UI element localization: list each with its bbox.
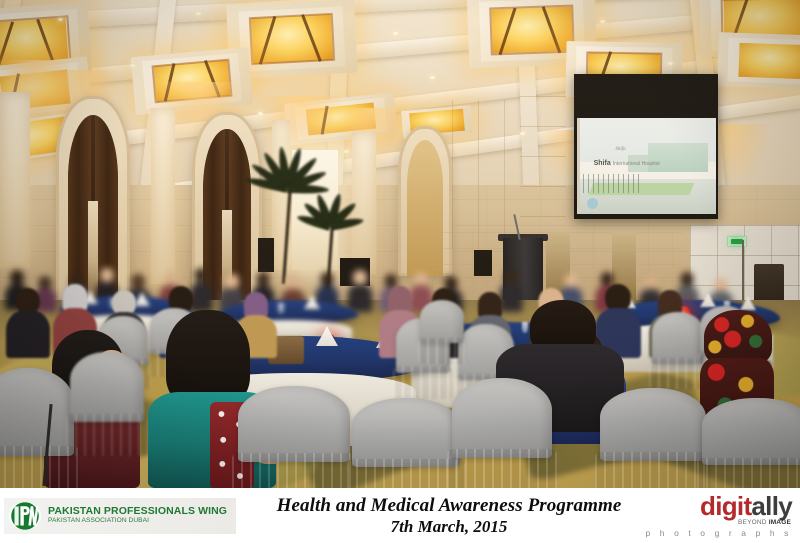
tagline-bold: IMAGE <box>769 519 791 526</box>
photographer-role: p h o t o g r a p h s <box>646 528 792 538</box>
banquet-chair <box>420 300 464 362</box>
recessed-spotlight <box>430 76 435 79</box>
recessed-spotlight <box>196 12 201 15</box>
recessed-spotlight <box>344 150 349 153</box>
brand-part-two: ally <box>751 491 792 521</box>
footer-bar: PAKISTAN PROFESSIONALS WING PAKISTAN ASS… <box>0 488 800 543</box>
slide-script-text: Shifa <box>615 147 625 152</box>
slide-title-main: Shifa <box>594 160 611 167</box>
recessed-spotlight <box>393 32 398 35</box>
photographer-credit: digitally BEYOND IMAGE p h o t o g r a p… <box>662 493 794 539</box>
ceiling-light-panel <box>284 92 398 145</box>
guest <box>8 288 48 358</box>
photographer-tagline: BEYOND IMAGE <box>738 519 791 526</box>
banquet-chair <box>238 386 350 488</box>
recessed-spotlight <box>600 20 605 23</box>
photographer-brand: digitally <box>700 493 792 519</box>
slide-title-text: Shifa International Hospital <box>594 160 660 167</box>
organisation-subtitle: PAKISTAN ASSOCIATION DUBAI <box>48 518 227 525</box>
banquet-chair <box>0 368 74 488</box>
event-photo-page: Shifa Shifa International Hospital <box>0 0 800 543</box>
recessed-spotlight <box>58 18 63 21</box>
slide-building <box>648 143 708 172</box>
event-caption: Health and Medical Awareness Programme 7… <box>236 495 662 537</box>
slide-title-rest: International Hospital <box>613 161 660 167</box>
event-date: 7th March, 2015 <box>236 517 662 537</box>
banquet-chair <box>600 388 706 488</box>
event-photograph: Shifa Shifa International Hospital <box>0 0 800 488</box>
wood-wall-panel <box>452 100 514 250</box>
banquet-chair <box>652 312 704 386</box>
banquet-chair <box>452 378 552 488</box>
banquet-chair <box>352 398 460 488</box>
organisation-name-block: PAKISTAN PROFESSIONALS WING PAKISTAN ASS… <box>48 506 227 525</box>
tagline-light: BEYOND <box>738 519 769 526</box>
pw-monogram-icon <box>8 501 42 531</box>
slide-fence <box>583 174 640 193</box>
recessed-spotlight <box>130 64 135 67</box>
projection-screen: Shifa Shifa International Hospital <box>577 118 716 214</box>
wall-niche <box>0 92 30 268</box>
ceiling-light-panel <box>131 47 254 115</box>
banquet-chair <box>702 398 800 488</box>
brand-part-one: digit <box>700 491 751 521</box>
event-title: Health and Medical Awareness Programme <box>236 495 662 517</box>
slide-logo-mark <box>587 198 598 209</box>
exit-sign <box>727 236 747 247</box>
ceiling-light-panel <box>717 32 800 90</box>
recessed-spotlight <box>668 62 673 65</box>
organisation-logo: PAKISTAN PROFESSIONALS WING PAKISTAN ASS… <box>4 498 236 534</box>
banquet-chair <box>70 352 144 452</box>
organisation-title: PAKISTAN PROFESSIONALS WING <box>48 506 227 517</box>
